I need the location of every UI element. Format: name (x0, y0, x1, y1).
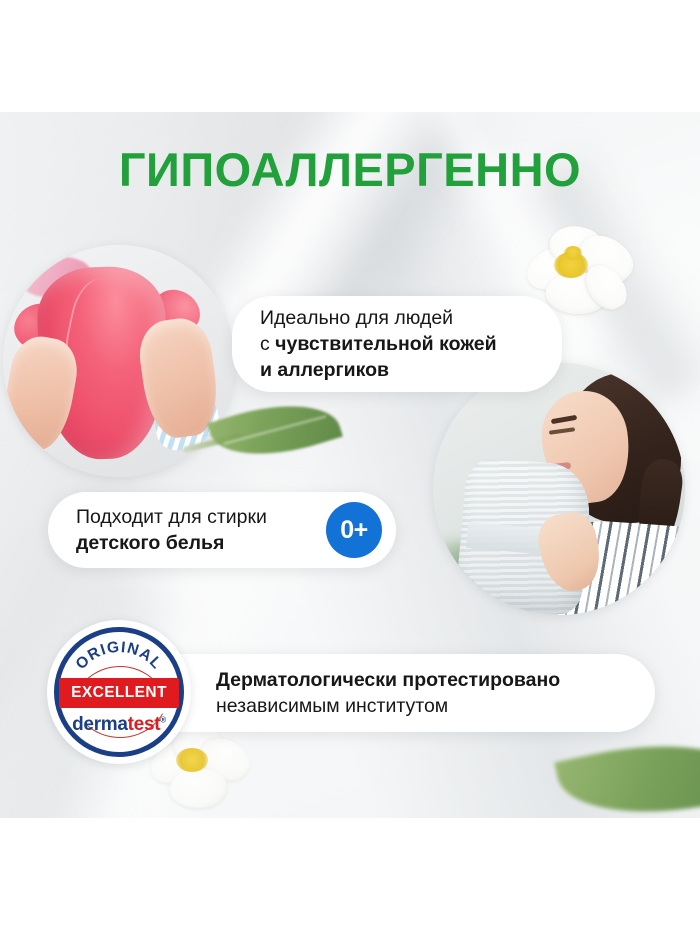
registered-mark-icon: ® (160, 716, 166, 725)
seal-banner-label: EXCELLENT (71, 684, 167, 702)
seal-brand-part1: derma (72, 714, 128, 735)
sensitive-skin-card: Идеально для людей с чувствительной коже… (232, 296, 562, 392)
card-line-prefix: с (260, 333, 275, 355)
dermatologically-tested-card: Дерматологически протестировано независи… (118, 654, 655, 732)
card-line: Идеально для людей (260, 305, 497, 331)
card-line-emphasis: чувствительной кожей (275, 333, 496, 355)
card-line: независимым институтом (216, 693, 560, 719)
dermatest-seal: ORIGINAL EXCELLENT dermatest® (47, 620, 191, 764)
woman-towel-photo (433, 363, 685, 615)
card-line: детского белья (76, 530, 267, 556)
hypoallergenic-product-poster: ГИПОАЛЛЕРГЕННО (0, 0, 700, 933)
sensitive-skin-card-text: Идеально для людей с чувствительной коже… (260, 305, 497, 383)
bottom-white-area (0, 818, 700, 933)
card-line: Подходит для стирки (76, 504, 267, 530)
seal-brand: dermatest® (47, 714, 191, 736)
dermatologically-tested-card-text: Дерматологически протестировано независи… (216, 667, 560, 719)
card-line: Дерматологически протестировано (216, 667, 560, 693)
seal-brand-part2: test (128, 714, 161, 735)
age-rating-badge: 0+ (326, 502, 382, 558)
seal-banner: EXCELLENT (59, 678, 179, 708)
page-title: ГИПОАЛЛЕРГЕННО (0, 146, 700, 193)
card-line: с чувствительной кожей (260, 331, 497, 357)
baby-laundry-card-text: Подходит для стирки детского белья (76, 504, 267, 556)
baby-laundry-card: Подходит для стирки детского белья 0+ (48, 492, 396, 568)
card-line: и аллергиков (260, 357, 497, 383)
